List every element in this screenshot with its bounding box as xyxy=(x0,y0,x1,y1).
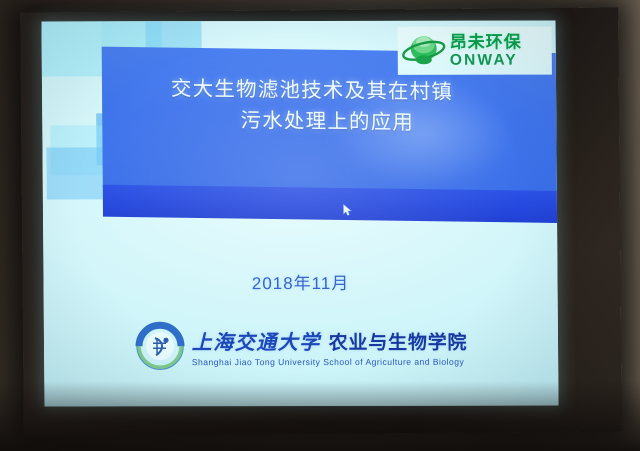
mosaic-square xyxy=(46,147,102,199)
university-name-en: Shanghai Jiao Tong University School of … xyxy=(192,356,468,366)
university-name-row: 上海交通大学 农业与生物学院 xyxy=(192,325,468,354)
school-name-cn: 农业与生物学院 xyxy=(329,327,468,354)
onway-logo: 昂未环保 ONWAY xyxy=(398,27,552,75)
presentation-slide: 交大生物滤池技术及其在村镇 污水处理上的应用 昂未环保 ONWAY 2018 xyxy=(41,21,558,407)
title-line-1: 交大生物滤池技术及其在村镇 xyxy=(102,72,522,108)
room-background: 交大生物滤池技术及其在村镇 污水处理上的应用 昂未环保 ONWAY 2018 xyxy=(0,0,640,451)
mosaic-square xyxy=(41,21,101,76)
projection-surface: 交大生物滤池技术及其在村镇 污水处理上的应用 昂未环保 ONWAY 2018 xyxy=(41,21,558,407)
onway-wordmark: 昂未环保 ONWAY xyxy=(450,33,522,68)
title-line-2: 污水处理上的应用 xyxy=(102,103,522,139)
globe-swoosh-icon xyxy=(401,31,447,71)
university-footer: 上海交通大学 农业与生物学院 Shanghai Jiao Tong Univer… xyxy=(44,321,558,372)
accent-bar xyxy=(103,185,559,225)
sjtu-seal-icon xyxy=(135,321,185,371)
mouse-pointer[interactable] xyxy=(343,204,352,216)
university-text-block: 上海交通大学 农业与生物学院 Shanghai Jiao Tong Univer… xyxy=(192,325,468,366)
slide-title: 交大生物滤池技术及其在村镇 污水处理上的应用 xyxy=(102,72,523,139)
university-name-cn: 上海交通大学 xyxy=(192,325,321,354)
slide-date: 2018年11月 xyxy=(43,269,557,295)
onway-name-cn: 昂未环保 xyxy=(450,33,522,50)
onway-name-en: ONWAY xyxy=(450,52,522,68)
